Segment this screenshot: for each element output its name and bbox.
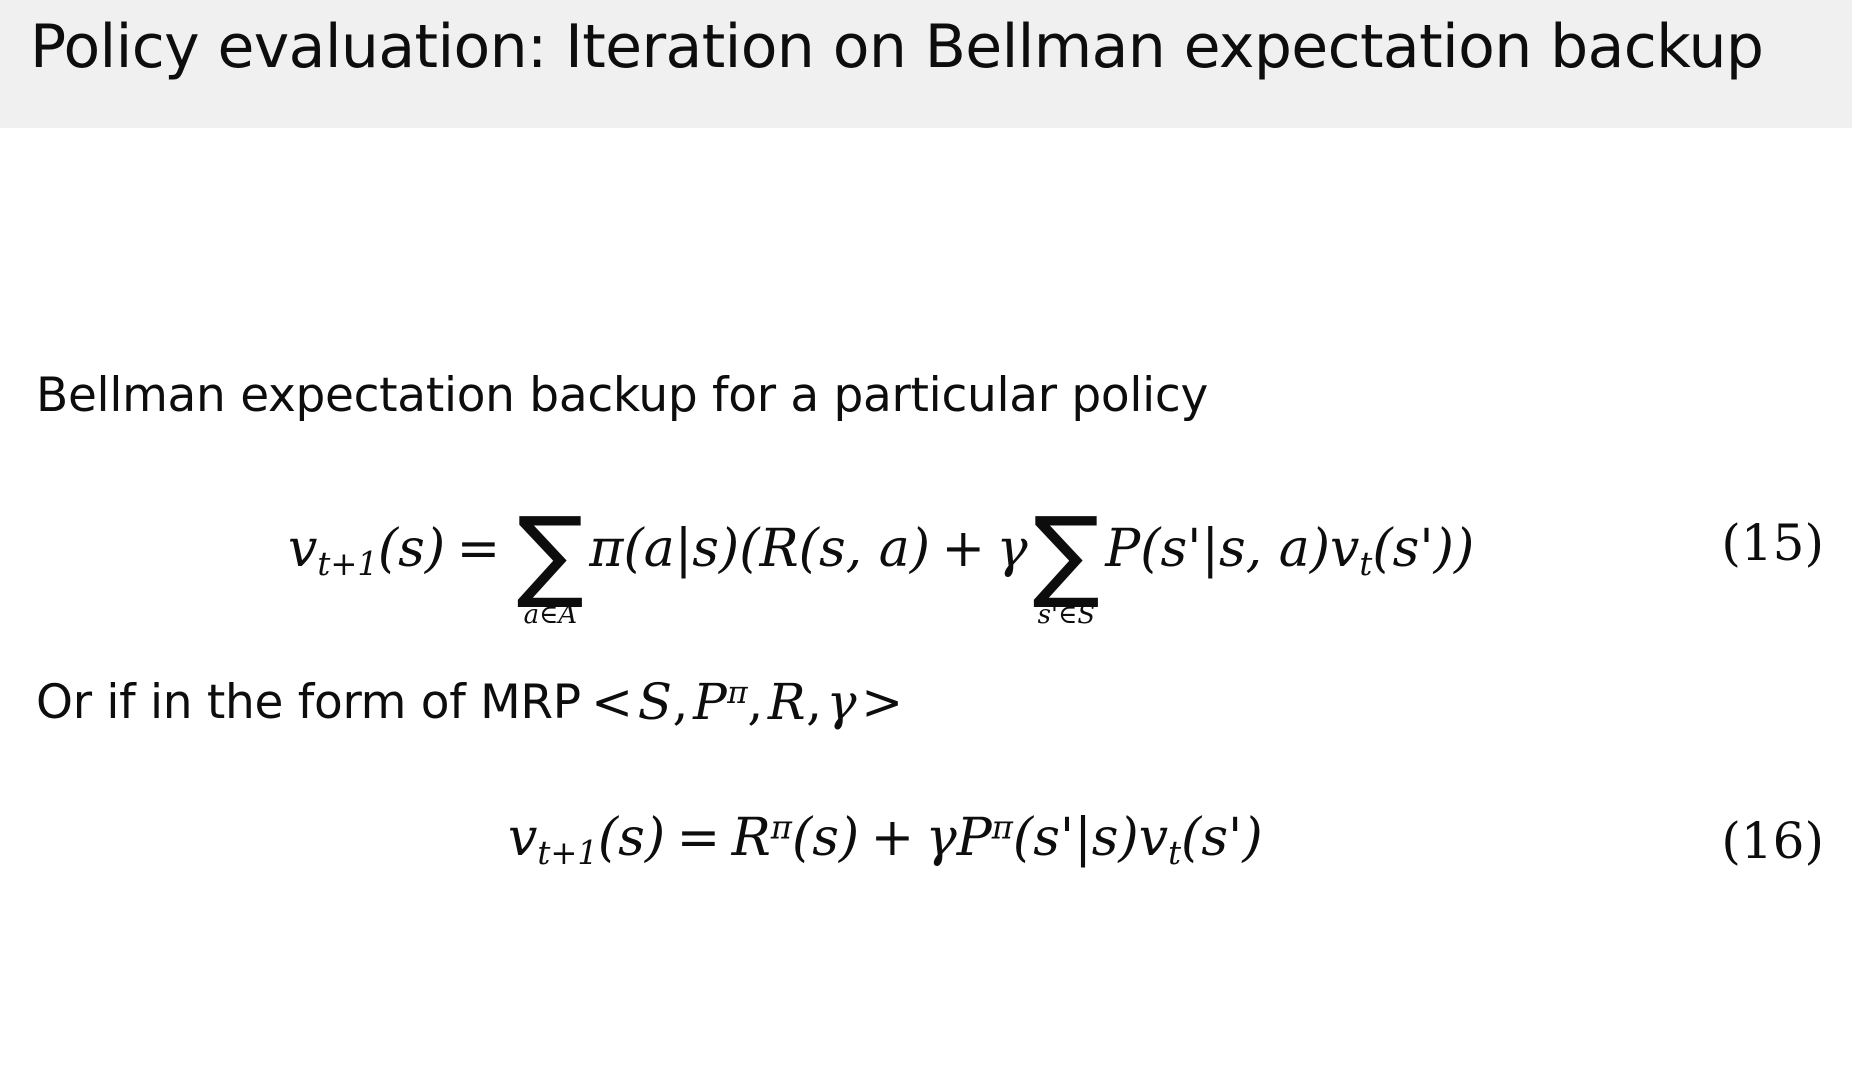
eq16-equals: = xyxy=(677,808,721,868)
eq15-value-symbol: v xyxy=(1330,519,1359,579)
eq16-transition-symbol: P xyxy=(957,808,992,868)
eq16-reward-superscript: π xyxy=(771,808,792,846)
slide-header: Policy evaluation: Iteration on Bellman … xyxy=(0,0,1852,128)
equation-16-tag: (16) xyxy=(1721,812,1824,870)
eq16-value-symbol: v xyxy=(1139,808,1168,868)
page-title: Policy evaluation: Iteration on Bellman … xyxy=(30,17,1763,77)
eq15-plus: + xyxy=(941,519,985,579)
eq15-summation-over-actions: ∑a∈A xyxy=(517,508,584,629)
eq16-gamma-symbol: γ xyxy=(926,808,957,868)
eq15-close-paren: ) xyxy=(1454,519,1474,579)
eq16-reward-argument: (s) xyxy=(792,808,859,868)
eq15-reward-symbol: R xyxy=(760,519,799,579)
eq15-reward-argument: (s, a) xyxy=(799,519,930,579)
mrp-comma-3: , xyxy=(806,673,822,731)
slide-body: Bellman expectation backup for a particu… xyxy=(0,128,1852,1080)
equation-15-expression: vt+1(s)=∑a∈Aπ(a|s)(R(s, a)+γ∑s'∈SP(s'|s,… xyxy=(288,508,1474,629)
mrp-transition-superscript: π xyxy=(727,675,747,711)
mrp-comma-2: , xyxy=(747,673,763,731)
eq15-gamma-symbol: γ xyxy=(996,519,1027,579)
mrp-text-prefix: Or if in the form of MRP xyxy=(36,675,581,730)
eq15-sum2-limit: s'∈S xyxy=(1038,601,1096,630)
mrp-reward-symbol: R xyxy=(768,673,806,731)
eq15-value-subscript: t xyxy=(1359,545,1372,583)
eq15-lhs-variable: v xyxy=(288,519,317,579)
mrp-discount-symbol: γ xyxy=(827,673,857,731)
equation-16-expression: vt+1(s)=Rπ(s)+γPπ(s'|s)vt(s') xyxy=(508,808,1263,872)
eq15-lhs-argument: (s) xyxy=(378,519,445,579)
eq16-value-argument: (s') xyxy=(1181,808,1263,868)
eq15-policy-argument: (a|s) xyxy=(623,519,739,579)
mrp-transition-symbol: P xyxy=(693,673,727,731)
mrp-close-angle: > xyxy=(861,673,903,731)
eq15-policy-symbol: π xyxy=(589,519,623,579)
mrp-comma-1: , xyxy=(672,673,688,731)
mrp-text-line: Or if in the form of MRP<S,Pπ,R,γ> xyxy=(36,673,903,731)
eq16-lhs-subscript: t+1 xyxy=(537,834,597,872)
eq16-value-subscript: t xyxy=(1168,834,1181,872)
eq16-transition-superscript: π xyxy=(992,808,1013,846)
sigma-icon: ∑ xyxy=(517,508,584,600)
eq15-summation-over-next-states: ∑s'∈S xyxy=(1033,508,1100,629)
mrp-state-space-symbol: S xyxy=(638,673,673,731)
eq16-transition-argument: (s'|s) xyxy=(1013,808,1139,868)
sigma-icon: ∑ xyxy=(1033,508,1100,600)
equation-15-tag: (15) xyxy=(1721,514,1824,572)
eq15-sum1-limit: a∈A xyxy=(524,601,578,630)
eq16-lhs-variable: v xyxy=(508,808,537,868)
intro-text: Bellman expectation backup for a particu… xyxy=(36,368,1208,423)
eq15-lhs-subscript: t+1 xyxy=(317,545,377,583)
eq15-transition-symbol: P xyxy=(1105,519,1140,579)
eq15-value-argument: (s') xyxy=(1372,519,1454,579)
eq16-reward-symbol: R xyxy=(732,808,771,868)
mrp-open-angle: < xyxy=(591,673,633,731)
eq15-equals: = xyxy=(457,519,501,579)
eq16-plus: + xyxy=(871,808,915,868)
eq16-lhs-argument: (s) xyxy=(598,808,665,868)
eq15-transition-argument: (s'|s, a) xyxy=(1140,519,1330,579)
mrp-tuple: <S,Pπ,R,γ> xyxy=(591,673,903,731)
eq15-open-paren: ( xyxy=(739,519,759,579)
